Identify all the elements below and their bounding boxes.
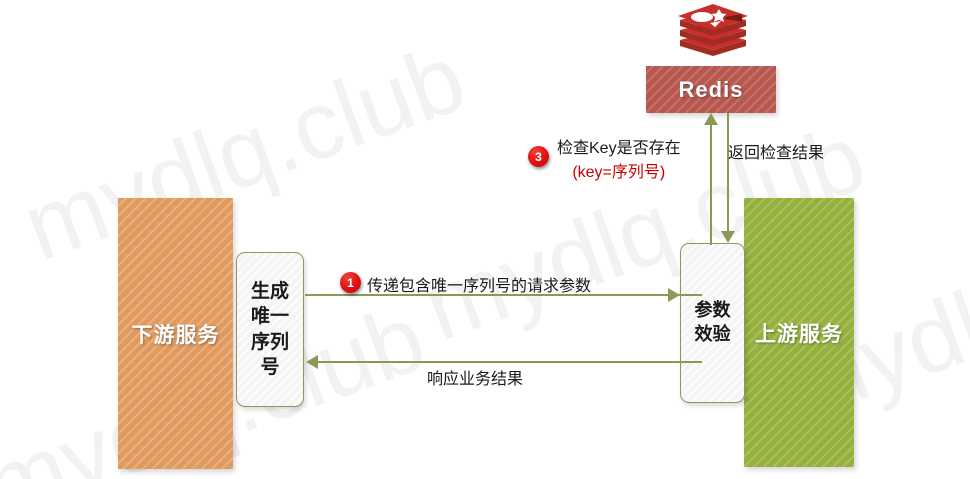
redis-label: Redis [679,77,744,103]
check-key-label-line2: (key=序列号) [557,158,681,182]
diagram-canvas: mydlq.club mydlq.club mydlq.club mydlq.c… [0,0,970,479]
check-result-edge-label: 返回检查结果 [728,139,824,163]
param-check-node[interactable]: 参数效验 2 [680,243,745,403]
request-edge-label: 传递包含唯一序列号的请求参数 [367,272,591,296]
step-badge-1: 1 [340,272,361,293]
upstream-service-node[interactable]: 上游服务 [744,198,854,467]
step-badge-3: 3 [528,146,549,167]
downstream-service-node[interactable]: 下游服务 [118,198,233,469]
check-result-arrow-head [721,231,735,243]
check-key-edge-label: 检查Key是否存在 (key=序列号) [557,134,681,182]
check-key-arrow-line [710,125,712,245]
response-edge-label: 响应业务结果 [427,365,523,389]
redis-logo-icon [672,2,754,64]
redis-node[interactable]: Redis [646,66,776,113]
response-arrow-head [306,355,318,369]
response-arrow-line [318,361,702,363]
generate-unique-id-label: 生成唯一序列号 [237,279,303,379]
check-key-label-line1: 检查Key是否存在 [557,140,681,157]
upstream-service-label: 上游服务 [755,318,843,348]
check-key-arrow-head [704,113,718,125]
generate-unique-id-node[interactable]: 生成唯一序列号 [236,252,304,407]
downstream-service-label: 下游服务 [132,319,220,349]
watermark: mydlq.club [10,23,479,283]
check-result-arrow-line [727,113,729,231]
param-check-label: 参数效验 [681,299,744,347]
request-arrow-head [668,288,680,302]
